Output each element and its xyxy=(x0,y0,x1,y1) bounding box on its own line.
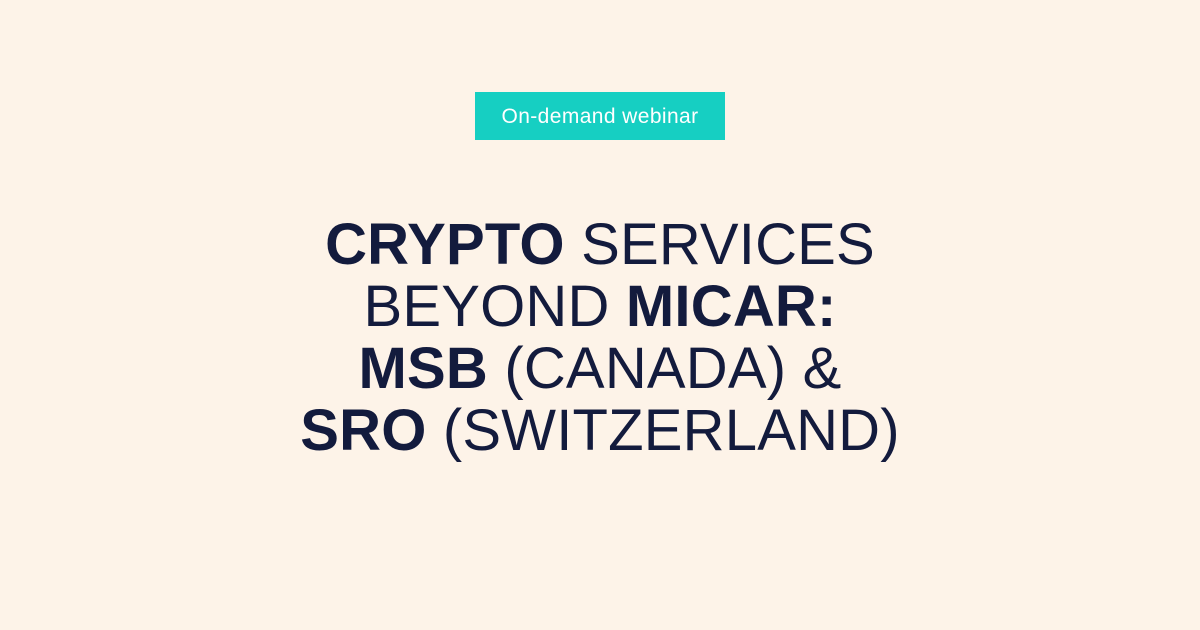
page-title: CRYPTO SERVICES BEYOND MICAR: MSB (CANAD… xyxy=(0,214,1200,462)
title-line: BEYOND MICAR: xyxy=(0,276,1200,338)
title-segment: SERVICES xyxy=(565,212,875,277)
title-line: SRO (SWITZERLAND) xyxy=(0,400,1200,462)
title-segment: CRYPTO xyxy=(325,212,565,277)
status-badge: On-demand webinar xyxy=(475,92,724,140)
title-segment: MSB xyxy=(359,336,489,401)
title-segment: BEYOND xyxy=(363,274,625,339)
title-line: CRYPTO SERVICES xyxy=(0,214,1200,276)
title-segment: MICAR: xyxy=(626,274,837,339)
badge-label: On-demand webinar xyxy=(501,106,698,127)
title-segment: SRO xyxy=(300,398,426,463)
title-segment: (SWITZERLAND) xyxy=(427,398,900,463)
title-line: MSB (CANADA) & xyxy=(0,338,1200,400)
webinar-promo-card: On-demand webinar CRYPTO SERVICES BEYOND… xyxy=(0,0,1200,630)
title-segment: (CANADA) & xyxy=(488,336,841,401)
